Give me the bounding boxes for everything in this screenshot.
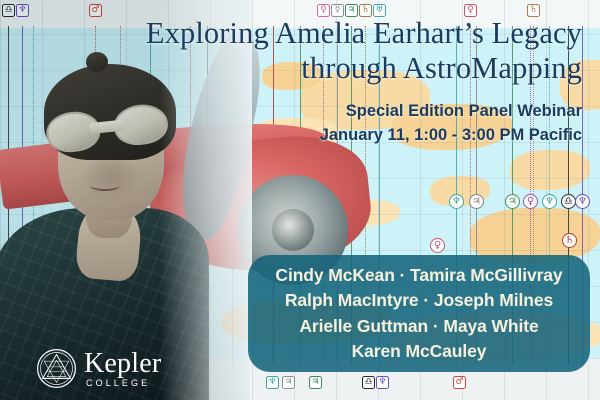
libra-glyph: ♎ [561,194,576,209]
panelist-line: Ralph MacIntyre · Joseph Milnes [285,288,553,313]
neptune-glyph: ♆ [449,194,464,209]
panelist-line: Cindy McKean · Tamira McGillivray [275,263,562,288]
poster-title-line1: Exploring Amelia Earhart’s Legacy [146,16,582,50]
webinar-poster: ♎♆♂♀☿♃♄♅♀♄♆♃♃♎♆♂♀♆♆♅♄♆♃♃♀♆♎♆♄♀ [0,0,600,400]
mars-glyph: ♂ [453,376,466,389]
jupiter-glyph: ♃ [309,376,322,389]
event-type-label: Special Edition Panel Webinar [162,100,582,124]
neptune-glyph: ♆ [376,376,389,389]
venus-glyph: ♀ [523,194,538,209]
panelist-line: Arielle Guttman · Maya White [299,314,538,339]
neptune-glyph: ♆ [266,376,279,389]
kepler-college-logo: Kepler COLLEGE [36,348,161,389]
event-datetime-label: January 11, 1:00 - 3:00 PM Pacific [162,124,582,148]
poster-title: Exploring Amelia Earhart’s Legacy throug… [62,16,582,87]
neptune-glyph: ♆ [542,194,557,209]
panelists-panel: Cindy McKean · Tamira McGillivray Ralph … [248,255,590,372]
logo-subtitle: COLLEGE [86,379,161,388]
saturn-glyph: ♄ [562,233,577,248]
poster-subtitle: Special Edition Panel Webinar January 11… [162,100,582,148]
neptune-glyph: ♆ [575,194,590,209]
jupiter-glyph: ♃ [505,194,520,209]
venus-glyph: ♀ [430,238,445,253]
kepler-emblem-icon [36,348,77,389]
panelist-line: Karen McCauley [352,339,487,364]
poster-title-line2: through AstroMapping [62,51,582,86]
logo-name: Kepler [84,350,161,378]
libra-glyph: ♎ [362,376,375,389]
propeller-hub [272,209,314,251]
kepler-logo-text: Kepler COLLEGE [84,350,161,388]
jupiter-glyph: ♃ [282,376,295,389]
jupiter-glyph: ♃ [469,194,484,209]
